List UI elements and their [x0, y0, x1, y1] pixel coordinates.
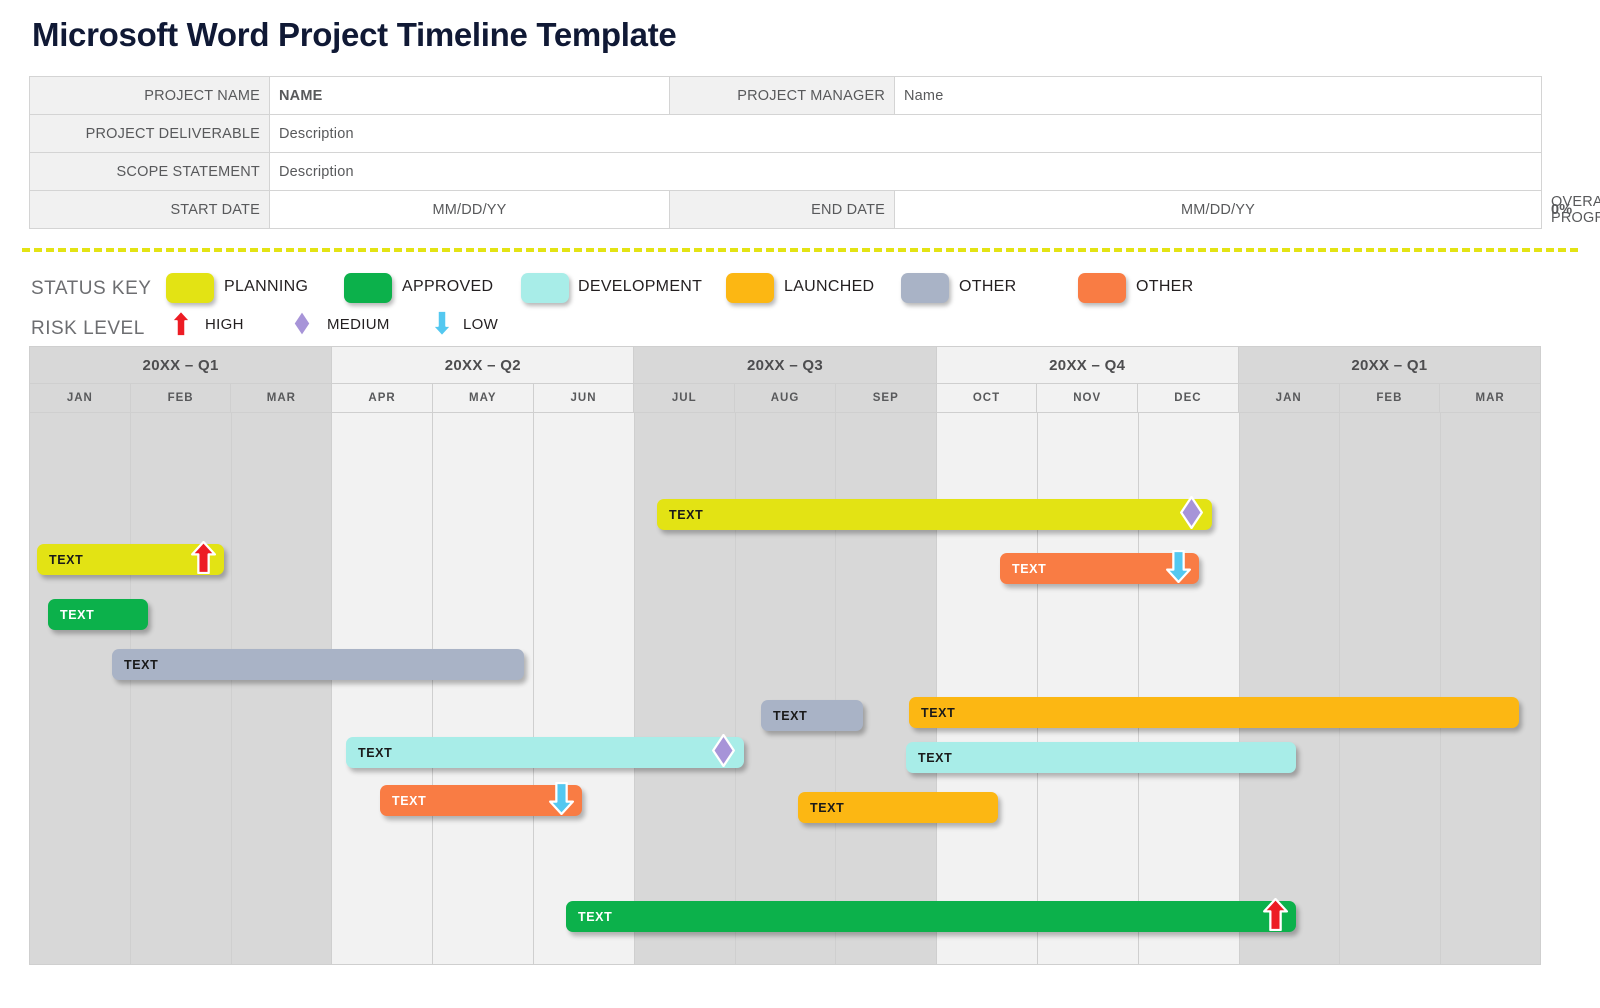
- gantt-bar-1-planning[interactable]: TEXT: [657, 499, 1212, 530]
- status-label-other-4: OTHER: [959, 278, 1017, 296]
- gantt-chart: 20XX – Q120XX – Q220XX – Q320XX – Q420XX…: [29, 346, 1541, 965]
- legend-panel: STATUS KEY RISK LEVEL PLANNINGAPPROVEDDE…: [0, 266, 1600, 346]
- gantt-bar-9-development[interactable]: TEXT: [906, 742, 1296, 773]
- month-header-may-4: MAY: [432, 383, 534, 413]
- quarter-header-5: 20XX – Q1: [1238, 346, 1541, 384]
- gantt-bar-3-other[interactable]: TEXT: [1000, 553, 1199, 584]
- grid-column-jan-0: [30, 413, 131, 964]
- table-row-project-deliverable: PROJECT DELIVERABLE Description: [30, 115, 1542, 153]
- month-header-mar-14: MAR: [1439, 383, 1541, 413]
- month-header-mar-2: MAR: [230, 383, 332, 413]
- grid-column-nov-10: [1038, 413, 1139, 964]
- gantt-bar-label: TEXT: [1012, 562, 1046, 576]
- arrow-down-icon: [1166, 550, 1191, 588]
- scope-statement-value[interactable]: Description: [270, 153, 1542, 191]
- page-title: Microsoft Word Project Timeline Template: [32, 16, 676, 54]
- end-date-value[interactable]: MM/DD/YY: [895, 191, 1542, 229]
- project-deliverable-value[interactable]: Description: [270, 115, 1542, 153]
- month-header-row: JANFEBMARAPRMAYJUNJULAUGSEPOCTNOVDECJANF…: [29, 384, 1541, 413]
- status-swatch-other-5: [1078, 273, 1126, 303]
- status-key-label: STATUS KEY: [31, 278, 151, 300]
- gantt-bar-6-other[interactable]: TEXT: [761, 700, 863, 731]
- scope-statement-label: SCOPE STATEMENT: [30, 153, 270, 191]
- status-label-other-5: OTHER: [1136, 278, 1194, 296]
- section-divider: [22, 248, 1578, 252]
- month-header-jun-5: JUN: [533, 383, 635, 413]
- status-label-approved-1: APPROVED: [402, 278, 493, 296]
- gantt-bar-11-launched[interactable]: TEXT: [798, 792, 998, 823]
- grid-column-oct-9: [937, 413, 1038, 964]
- status-label-development-2: DEVELOPMENT: [578, 278, 702, 296]
- table-row-scope-statement: SCOPE STATEMENT Description: [30, 153, 1542, 191]
- gantt-bar-label: TEXT: [578, 910, 612, 924]
- gantt-bar-12-approved[interactable]: TEXT: [566, 901, 1296, 932]
- gantt-bar-10-other[interactable]: TEXT: [380, 785, 582, 816]
- arrow-down-icon: [432, 310, 452, 342]
- gantt-bar-label: TEXT: [60, 608, 94, 622]
- status-label-planning-0: PLANNING: [224, 278, 308, 296]
- quarter-header-4: 20XX – Q4: [936, 346, 1239, 384]
- risk-label-medium: MEDIUM: [327, 316, 390, 333]
- arrow-up-icon: [191, 541, 216, 579]
- grid-column-aug-7: [736, 413, 837, 964]
- diamond-icon: [292, 310, 312, 342]
- status-label-launched-3: LAUNCHED: [784, 278, 874, 296]
- gantt-bar-label: TEXT: [392, 794, 426, 808]
- arrow-up-icon: [171, 310, 191, 342]
- gantt-bar-2-planning[interactable]: TEXT: [37, 544, 224, 575]
- month-header-sep-8: SEP: [835, 383, 937, 413]
- start-date-value[interactable]: MM/DD/YY: [270, 191, 670, 229]
- gantt-bar-label: TEXT: [124, 658, 158, 672]
- month-header-nov-10: NOV: [1036, 383, 1138, 413]
- month-header-jan-12: JAN: [1238, 383, 1340, 413]
- status-swatch-other-4: [901, 273, 949, 303]
- status-swatch-planning-0: [166, 273, 214, 303]
- diamond-icon: [711, 734, 736, 772]
- gantt-bar-label: TEXT: [773, 709, 807, 723]
- project-name-label: PROJECT NAME: [30, 77, 270, 115]
- month-header-feb-1: FEB: [130, 383, 232, 413]
- gantt-bar-label: TEXT: [918, 751, 952, 765]
- month-header-dec-11: DEC: [1137, 383, 1239, 413]
- grid-column-jan-12: [1240, 413, 1341, 964]
- project-name-value[interactable]: NAME: [270, 77, 670, 115]
- risk-label-low: LOW: [463, 316, 498, 333]
- grid-column-mar-2: [232, 413, 333, 964]
- arrow-down-icon: [549, 782, 574, 820]
- gantt-bar-label: TEXT: [49, 553, 83, 567]
- gantt-bar-label: TEXT: [669, 508, 703, 522]
- table-row-project-name: PROJECT NAME NAME PROJECT MANAGER Name: [30, 77, 1542, 115]
- grid-column-feb-13: [1340, 413, 1441, 964]
- gantt-plot-area[interactable]: TEXTTEXTTEXTTEXTTEXTTEXTTEXTTEXTTEXTTEXT…: [29, 412, 1541, 965]
- gantt-bar-label: TEXT: [921, 706, 955, 720]
- start-date-label: START DATE: [30, 191, 270, 229]
- grid-column-may-4: [433, 413, 534, 964]
- month-header-feb-13: FEB: [1339, 383, 1441, 413]
- table-row-dates: START DATE MM/DD/YY END DATE MM/DD/YY OV…: [30, 191, 1542, 229]
- grid-column-jun-5: [534, 413, 635, 964]
- month-header-jul-6: JUL: [633, 383, 735, 413]
- gantt-bar-5-other[interactable]: TEXT: [112, 649, 524, 680]
- project-deliverable-label: PROJECT DELIVERABLE: [30, 115, 270, 153]
- quarter-header-row: 20XX – Q120XX – Q220XX – Q320XX – Q420XX…: [29, 346, 1541, 384]
- status-swatch-development-2: [521, 273, 569, 303]
- month-header-oct-9: OCT: [936, 383, 1038, 413]
- quarter-header-2: 20XX – Q2: [331, 346, 634, 384]
- project-manager-label: PROJECT MANAGER: [670, 77, 895, 115]
- quarter-header-1: 20XX – Q1: [29, 346, 332, 384]
- quarter-header-3: 20XX – Q3: [633, 346, 936, 384]
- gantt-bar-label: TEXT: [358, 746, 392, 760]
- gantt-bar-8-development[interactable]: TEXT: [346, 737, 744, 768]
- status-swatch-approved-1: [344, 273, 392, 303]
- month-header-apr-3: APR: [331, 383, 433, 413]
- gantt-bar-4-approved[interactable]: TEXT: [48, 599, 148, 630]
- risk-label-high: HIGH: [205, 316, 244, 333]
- grid-column-apr-3: [332, 413, 433, 964]
- grid-column-jul-6: [635, 413, 736, 964]
- end-date-label: END DATE: [670, 191, 895, 229]
- status-swatch-launched-3: [726, 273, 774, 303]
- project-info-table: PROJECT NAME NAME PROJECT MANAGER Name P…: [29, 76, 1542, 229]
- risk-level-label: RISK LEVEL: [31, 318, 145, 340]
- gantt-bar-label: TEXT: [810, 801, 844, 815]
- month-header-jan-0: JAN: [29, 383, 131, 413]
- project-manager-value[interactable]: Name: [895, 77, 1542, 115]
- arrow-up-icon: [1263, 898, 1288, 936]
- grid-column-mar-14: [1441, 413, 1541, 964]
- month-header-aug-7: AUG: [734, 383, 836, 413]
- diamond-icon: [1179, 496, 1204, 534]
- grid-column-sep-8: [836, 413, 937, 964]
- grid-column-feb-1: [131, 413, 232, 964]
- gantt-bar-7-launched[interactable]: TEXT: [909, 697, 1519, 728]
